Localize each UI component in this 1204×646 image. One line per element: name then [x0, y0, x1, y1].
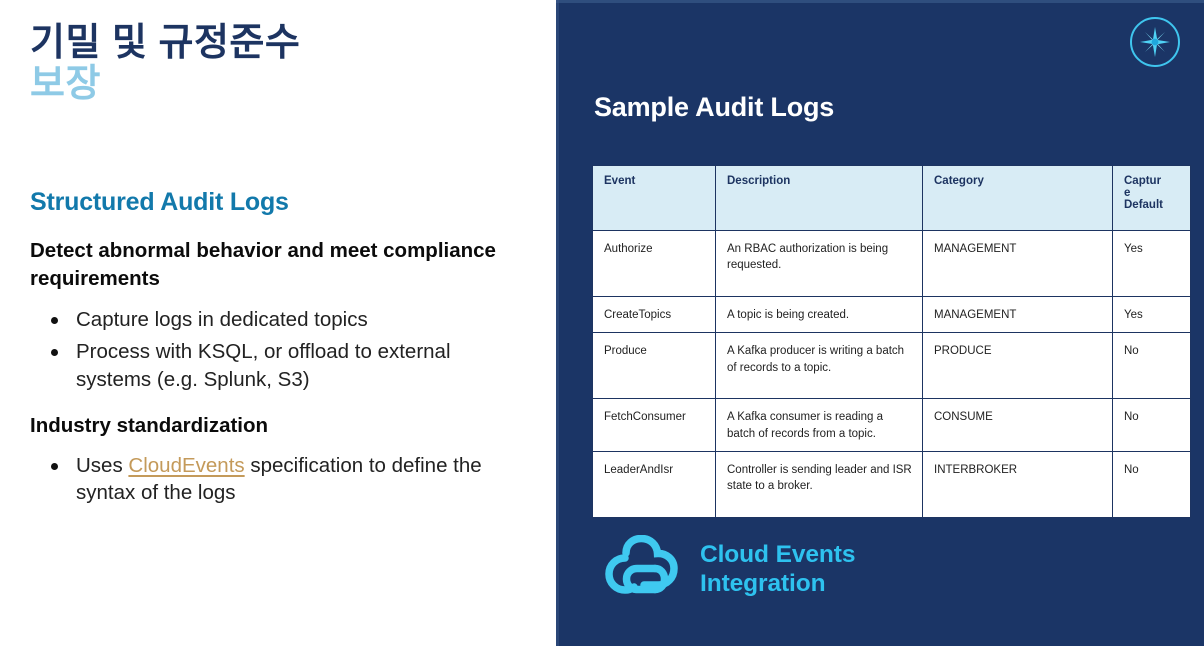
table-row: Authorize An RBAC authorization is being… — [593, 231, 1191, 297]
table-row: LeaderAndIsr Controller is sending leade… — [593, 451, 1191, 517]
list-item: Uses CloudEvents specification to define… — [30, 452, 530, 507]
bullet-list-standardization: Uses CloudEvents specification to define… — [30, 452, 530, 507]
cloudevents-cloud-ce-icon — [592, 535, 686, 605]
column-header-description: Description — [716, 166, 923, 231]
cell-event: Produce — [593, 333, 716, 399]
cell-category: INTERBROKER — [923, 451, 1113, 517]
cell-capture-default: Yes — [1113, 231, 1191, 297]
cell-description: A Kafka consumer is reading a batch of r… — [716, 399, 923, 452]
cell-capture-default: No — [1113, 399, 1191, 452]
list-item: Process with KSQL, or offload to externa… — [30, 338, 530, 393]
capture-header-line-2: e — [1124, 187, 1181, 199]
cell-event: LeaderAndIsr — [593, 451, 716, 517]
cloudevents-integration-logo: Cloud Events Integration — [592, 535, 855, 605]
ce-text-line-1: Cloud Events — [700, 541, 855, 570]
cell-category: CONSUME — [923, 399, 1113, 452]
ce-text-line-2: Integration — [700, 570, 855, 599]
table-row: FetchConsumer A Kafka consumer is readin… — [593, 399, 1191, 452]
table-row: Produce A Kafka producer is writing a ba… — [593, 333, 1191, 399]
cell-capture-default: No — [1113, 451, 1191, 517]
cell-capture-default: No — [1113, 333, 1191, 399]
section-heading: Structured Audit Logs — [30, 188, 530, 217]
panel-left-edge — [556, 0, 559, 646]
cell-category: MANAGEMENT — [923, 231, 1113, 297]
bullet-text: Capture logs in dedicated topics — [76, 308, 368, 331]
cloudevents-logo-text: Cloud Events Integration — [700, 541, 855, 599]
sub-heading-industry: Industry standardization — [30, 414, 530, 438]
panel-top-edge — [556, 0, 1204, 3]
list-item: Capture logs in dedicated topics — [30, 306, 530, 333]
cell-event: CreateTopics — [593, 297, 716, 333]
right-dark-panel: Sample Audit Logs Event Description Cate… — [556, 0, 1204, 646]
title-line-secondary: 보장 — [30, 63, 530, 106]
lead-paragraph: Detect abnormal behavior and meet compli… — [30, 237, 510, 292]
table-header-row: Event Description Category Captur e Defa… — [593, 166, 1191, 231]
cell-description: A Kafka producer is writing a batch of r… — [716, 333, 923, 399]
cell-description: Controller is sending leader and ISR sta… — [716, 451, 923, 517]
cell-category: MANAGEMENT — [923, 297, 1113, 333]
cell-description: A topic is being created. — [716, 297, 923, 333]
column-header-event: Event — [593, 166, 716, 231]
left-content-pane: 기밀 및 규정준수 보장 Structured Audit Logs Detec… — [0, 0, 548, 646]
bullet-text: Process with KSQL, or offload to externa… — [76, 340, 451, 390]
panel-title: Sample Audit Logs — [594, 92, 834, 123]
audit-logs-table: Event Description Category Captur e Defa… — [592, 165, 1191, 518]
audit-logs-table-wrap: Event Description Category Captur e Defa… — [592, 165, 1190, 518]
title-line-primary: 기밀 및 규정준수 — [30, 22, 530, 65]
slide-title: 기밀 및 규정준수 보장 — [30, 22, 530, 105]
capture-header-line-3: Default — [1124, 199, 1181, 211]
bullet-list-detection: Capture logs in dedicated topics Process… — [30, 306, 530, 393]
table-body: Authorize An RBAC authorization is being… — [593, 231, 1191, 518]
table-header: Event Description Category Captur e Defa… — [593, 166, 1191, 231]
column-header-category: Category — [923, 166, 1113, 231]
table-row: CreateTopics A topic is being created. M… — [593, 297, 1191, 333]
column-header-capture-default: Captur e Default — [1113, 166, 1191, 231]
cell-description: An RBAC authorization is being requested… — [716, 231, 923, 297]
cell-event: Authorize — [593, 231, 716, 297]
cell-event: FetchConsumer — [593, 399, 716, 452]
cloudevents-link[interactable]: CloudEvents — [128, 454, 244, 477]
confluent-starburst-icon — [1128, 15, 1182, 69]
cell-category: PRODUCE — [923, 333, 1113, 399]
cell-capture-default: Yes — [1113, 297, 1191, 333]
bullet-text-prefix: Uses — [76, 454, 128, 477]
capture-header-line-1: Captur — [1124, 175, 1181, 187]
